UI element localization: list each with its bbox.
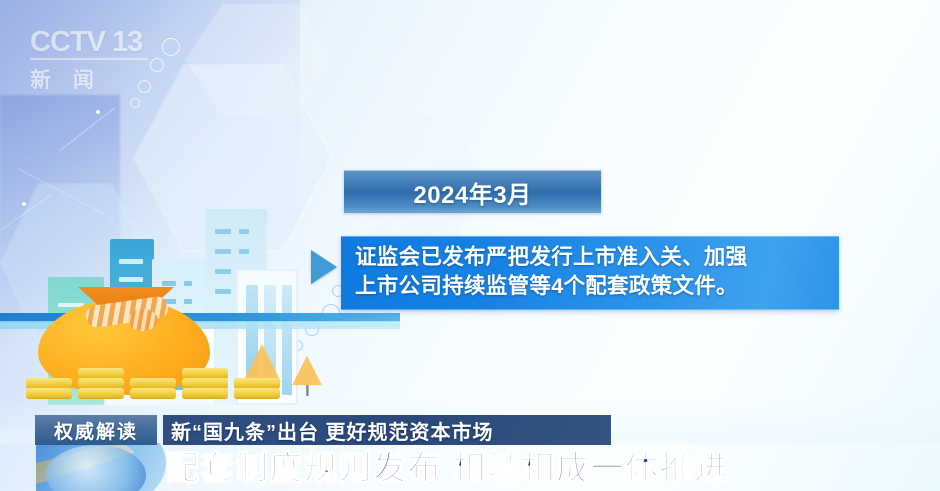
lower-third-badge: 权威解读 <box>35 415 157 445</box>
callout-date-bar: 2024年3月 <box>344 170 601 213</box>
callout-date-label: 2024年3月 <box>413 175 531 210</box>
coin-stack-icon <box>26 379 72 399</box>
callout-body-line-1: 证监会已发布严把发行上市准入关、加强 <box>355 243 827 272</box>
circle-outline-icon <box>162 38 180 56</box>
coin-stack-icon <box>130 379 176 399</box>
coin-stack-icon <box>78 369 124 399</box>
channel-logo-sub: 新 闻 <box>30 64 158 94</box>
coin-stack-icon <box>234 379 280 399</box>
dot-icon <box>96 110 100 114</box>
circle-outline-icon <box>130 98 140 108</box>
play-triangle-icon <box>311 250 337 284</box>
money-bag-knot <box>128 309 158 331</box>
broadcast-screenshot: CCTV 13 新 闻 2024年3月 证监会已发布严把发行上市准入关、加强 上… <box>0 0 940 491</box>
lower-third-headline: 配套制度规则发布 相辅相成一体推进 <box>166 441 729 489</box>
channel-logo: CCTV 13 新 闻 <box>30 28 158 90</box>
channel-logo-divider <box>30 58 148 60</box>
globe-graphic <box>36 443 168 491</box>
lower-third-badge-label: 权威解读 <box>54 417 138 444</box>
lower-third: 权威解读 新“国九条”出台 更好规范资本市场 配套制度规则发布 相辅相成一体推进 <box>0 399 940 491</box>
coin-stack-icon <box>182 369 228 399</box>
callout-body-line-2: 上市公司持续监管等4个配套政策文件。 <box>355 272 827 301</box>
callout-body-box: 证监会已发布严把发行上市准入关、加强 上市公司持续监管等4个配套政策文件。 <box>341 236 839 310</box>
up-arrow-icon <box>292 355 322 396</box>
channel-logo-text: CCTV 13 <box>30 28 158 57</box>
callout-block: 2024年3月 证监会已发布严把发行上市准入关、加强 上市公司持续监管等4个配套… <box>341 170 839 310</box>
